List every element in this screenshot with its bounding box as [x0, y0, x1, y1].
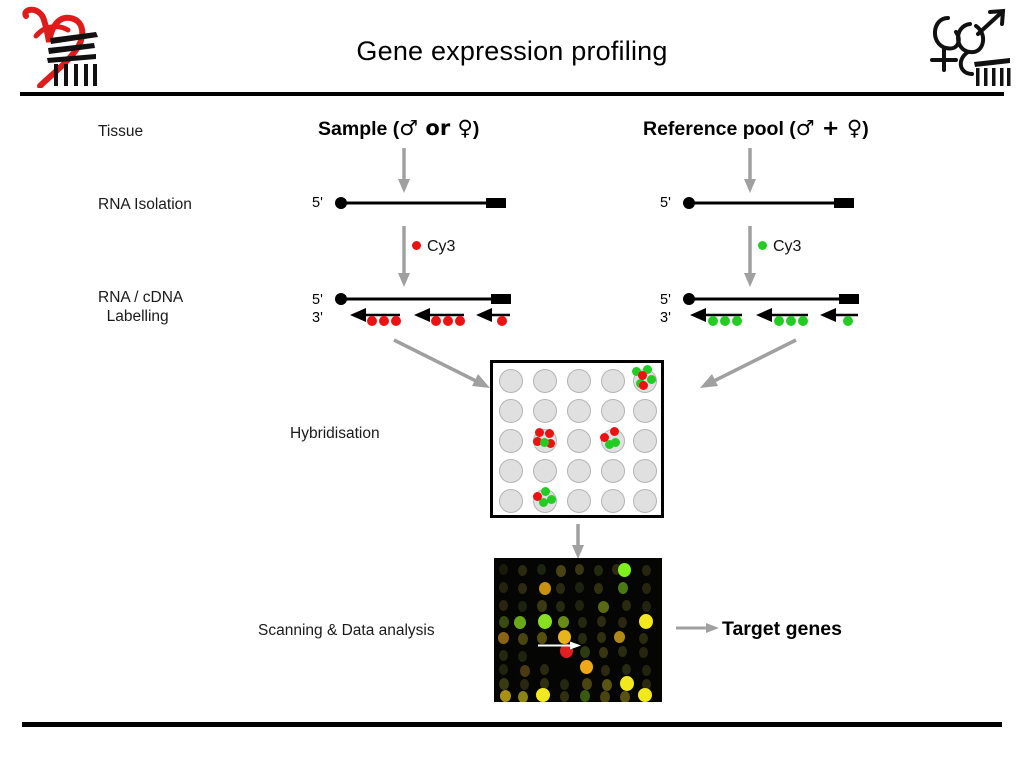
scan-spot [500, 690, 511, 702]
header-divider [20, 92, 1004, 96]
cdna-strand-sample: 5' 3' [312, 292, 512, 332]
scan-spot [540, 664, 549, 675]
tick-3prime-sample-cdna: 3' [312, 310, 323, 326]
scan-spot [597, 632, 606, 643]
array-spot [633, 429, 657, 453]
scan-spot-yellow [620, 676, 634, 691]
array-spot [499, 369, 523, 393]
scan-spot-bright-green [618, 563, 631, 577]
array-spot [633, 399, 657, 423]
scan-spot [499, 582, 508, 593]
array-spot [601, 489, 625, 513]
scan-spot [602, 679, 612, 691]
column-title-sample: Sample (♂ or ♀) [318, 118, 479, 141]
column-title-reference: Reference pool (♂ + ♀) [643, 118, 869, 141]
scan-pointer-arrow [538, 641, 582, 650]
scan-spot [518, 583, 527, 594]
dye-name-reference: Cy3 [773, 238, 801, 255]
hybrid-blob-green [647, 375, 656, 384]
scan-spot [499, 678, 509, 690]
scan-spot [518, 633, 528, 645]
scan-spot [575, 564, 584, 575]
sample-title-tail: ) [473, 118, 480, 140]
hybrid-blob-red [535, 428, 544, 437]
arrow-sample-to-array [390, 336, 500, 394]
hybrid-blob-red [639, 381, 648, 390]
scan-spot-orange [539, 582, 551, 595]
scan-spot [499, 564, 508, 575]
cdna-strand-reference: 5' 3' [660, 292, 860, 332]
stage-label-rna-cdna-labelling: RNA / cDNA Labelling [98, 288, 183, 326]
array-spot [499, 489, 523, 513]
page-title: Gene expression profiling [212, 36, 812, 67]
stage-label-hybridisation: Hybridisation [290, 424, 380, 443]
tick-5prime-reference-cdna: 5' [660, 292, 671, 308]
arrow-array-to-scan [570, 524, 586, 560]
sample-gender-symbols: ♂ or ♀ [399, 116, 473, 140]
mrna-strand-sample: 5' [312, 192, 507, 216]
array-spot [601, 369, 625, 393]
arrow-reference-tissue-to-rna [742, 148, 758, 194]
scan-spot [582, 678, 592, 690]
scan-spot [639, 647, 648, 658]
scan-spot [556, 565, 566, 577]
dye-dot-sample [412, 241, 421, 250]
scan-spot [599, 647, 608, 658]
array-spot [633, 489, 657, 513]
scan-spot [556, 601, 565, 612]
tick-5prime-reference-rna: 5' [660, 195, 671, 211]
scan-spot [642, 565, 651, 576]
hybrid-blob-green [547, 495, 556, 504]
array-spot [633, 459, 657, 483]
target-genes-label: Target genes [722, 618, 842, 641]
mrna-strand-reference: 5' [660, 192, 855, 216]
scan-spot-yellow [639, 614, 653, 629]
scan-spot [499, 600, 508, 611]
stage-label-scanning: Scanning & Data analysis [258, 621, 435, 640]
slide: Gene expression profiling [0, 0, 1024, 768]
scan-spot [560, 679, 569, 690]
microarray-grid[interactable] [490, 360, 664, 518]
slide-header: Gene expression profiling [0, 0, 1024, 96]
array-spot [533, 399, 557, 423]
array-spot [567, 399, 591, 423]
scan-spot [518, 691, 528, 702]
scan-spot [622, 600, 631, 611]
array-spot [499, 429, 523, 453]
gender-symbols-column-logo [918, 4, 1014, 90]
scan-spot [642, 583, 651, 594]
dye-label-sample: Cy3 [412, 238, 455, 256]
reference-title-text: Reference pool ( [643, 118, 796, 140]
stage-label-tissue: Tissue [98, 122, 143, 141]
array-spot [533, 369, 557, 393]
scan-spot [642, 601, 651, 612]
tick-3prime-reference-cdna: 3' [660, 310, 671, 326]
scan-spot [499, 650, 508, 661]
array-spot [567, 489, 591, 513]
hybrid-blob-green [540, 438, 549, 447]
arrow-reference-rna-to-labelling [742, 226, 758, 288]
scan-spot [594, 583, 603, 594]
scan-spot [614, 631, 625, 643]
dye-name-sample: Cy3 [427, 238, 455, 255]
scan-spot [618, 646, 627, 657]
heart-column-logo [14, 6, 114, 88]
scan-spot [520, 679, 529, 690]
scan-spot [642, 665, 651, 676]
scan-spot [575, 582, 584, 593]
scan-spot [598, 601, 609, 613]
tick-5prime-sample-rna: 5' [312, 195, 323, 211]
footer-divider [22, 722, 1002, 727]
scan-spot [499, 616, 509, 628]
array-spot [601, 399, 625, 423]
reference-gender-symbols: ♂ + ♀ [796, 116, 862, 140]
scan-spot [498, 632, 509, 644]
scan-spot-green [514, 616, 526, 629]
array-spot [499, 459, 523, 483]
arrow-sample-tissue-to-rna [396, 148, 412, 194]
arrow-sample-rna-to-labelling [396, 226, 412, 288]
hybrid-blob-red [610, 427, 619, 436]
scan-spot [518, 651, 527, 662]
array-spot [567, 369, 591, 393]
scan-spot [560, 691, 569, 702]
array-spot [567, 429, 591, 453]
scan-spot [518, 565, 527, 576]
scan-spot [580, 690, 590, 702]
arrow-reference-to-array [690, 336, 800, 394]
stage-label-rna-isolation: RNA Isolation [98, 195, 192, 214]
sample-title-text: Sample ( [318, 118, 399, 140]
scan-spot-yellow [536, 688, 550, 702]
scanned-microarray-image[interactable] [494, 558, 662, 702]
scan-spot [618, 582, 628, 594]
scan-spot [597, 616, 606, 627]
scan-spot [575, 600, 584, 611]
scan-spot [520, 665, 530, 677]
hybrid-blob-red [545, 429, 554, 438]
scan-spot [601, 665, 610, 676]
scan-spot [594, 565, 603, 576]
scan-spot [620, 691, 630, 702]
array-spot-hybridised-green [633, 369, 657, 393]
array-spot [601, 459, 625, 483]
hybrid-blob-red [638, 371, 647, 380]
scan-spot [639, 633, 648, 644]
array-spot [567, 459, 591, 483]
arrow-scan-to-target-genes [676, 622, 720, 634]
array-spot-hybridised-green [533, 489, 557, 513]
scan-spot [558, 616, 569, 628]
scan-spot [600, 691, 610, 702]
scan-spot-bright-green [538, 614, 552, 629]
array-spot [533, 459, 557, 483]
array-spot-hybridised-red [533, 429, 557, 453]
hybrid-blob-green [605, 440, 614, 449]
scan-spot [578, 617, 587, 628]
scan-spot-yellow [638, 688, 652, 702]
scan-spot [537, 564, 546, 575]
scan-spot [556, 583, 565, 594]
scan-spot [618, 617, 627, 628]
scan-spot [537, 600, 547, 612]
array-spot-hybridised-red [601, 429, 625, 453]
hybrid-blob-red [533, 492, 542, 501]
array-spot [499, 399, 523, 423]
scan-spot [622, 664, 631, 675]
scan-spot [499, 664, 508, 675]
scan-spot-orange [580, 660, 593, 674]
tick-5prime-sample-cdna: 5' [312, 292, 323, 308]
scan-spot [518, 601, 527, 612]
dye-label-reference: Cy3 [758, 238, 801, 256]
reference-title-tail: ) [862, 118, 869, 140]
dye-dot-reference [758, 241, 767, 250]
